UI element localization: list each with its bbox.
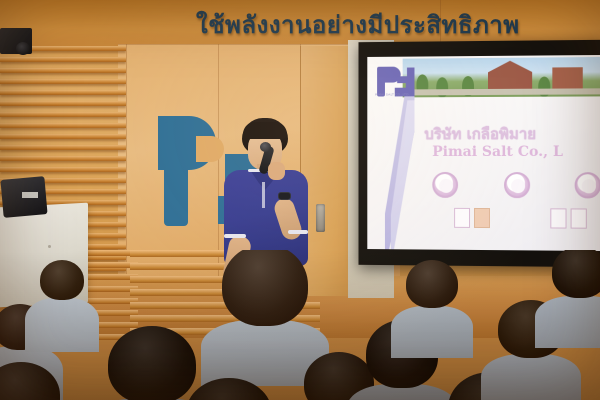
microphone-head-icon xyxy=(260,142,271,152)
speaker-cone-icon xyxy=(16,42,30,55)
logo-p-stem xyxy=(164,122,188,226)
audience-member-torso xyxy=(481,354,581,400)
wood-slat xyxy=(0,167,126,172)
footer-badge-1 xyxy=(454,208,470,228)
audience-member-torso xyxy=(25,298,99,352)
photo-scene: ใช้พลังงานอย่างมีประสิทธิภาพ xyxy=(0,0,600,400)
wall-banner-text: ใช้พลังงานอย่างมีประสิทธิภาพ xyxy=(196,8,466,42)
footer-badge-3 xyxy=(550,208,566,228)
presenter-left-sleeve-trim xyxy=(224,234,246,238)
lectern-screw-1 xyxy=(48,245,51,248)
wristwatch-icon xyxy=(278,192,291,200)
wood-slat xyxy=(0,101,126,106)
slide-photo-building xyxy=(488,61,532,91)
wood-slat xyxy=(0,134,126,139)
audience-member-torso xyxy=(391,306,473,358)
audience-member-head xyxy=(108,326,196,400)
wood-slat xyxy=(0,57,126,62)
audience-member-head xyxy=(40,260,84,300)
slide-title-english: Pimai Salt Co., L xyxy=(432,144,600,160)
projection-screen: PIMAI SALT CO.,LTD. บริษัท เกลือพิมาย Pi… xyxy=(367,55,600,251)
slide-photo-road xyxy=(403,88,600,95)
loudspeaker-icon xyxy=(0,28,32,54)
audience-member-head xyxy=(552,250,600,298)
footer-badge-4 xyxy=(571,208,587,228)
slide-certification-row xyxy=(428,172,600,203)
presenter-fringe xyxy=(243,122,287,139)
presenter-right-hand xyxy=(268,162,285,180)
wood-slat xyxy=(0,79,126,84)
audience-member-torso xyxy=(535,296,600,348)
slide-header-photo xyxy=(403,57,600,97)
wood-slat xyxy=(0,112,126,117)
slide-footer-badges xyxy=(454,208,587,231)
audience xyxy=(0,250,600,400)
slide-logo-caption: PIMAI SALT CO.,LTD. xyxy=(375,92,410,96)
footer-badge-2 xyxy=(474,208,490,228)
wood-slat xyxy=(0,156,126,161)
wood-slat xyxy=(0,145,126,150)
presenter-placket xyxy=(262,182,265,208)
cert-badge-3 xyxy=(575,172,600,198)
wood-slat xyxy=(0,123,126,128)
presenter-right-sleeve-trim xyxy=(288,230,308,234)
projection-screen-frame: PIMAI SALT CO.,LTD. บริษัท เกลือพิมาย Pi… xyxy=(358,40,600,267)
wood-slat xyxy=(0,68,126,73)
cert-badge-2 xyxy=(504,172,530,198)
audience-member-head xyxy=(406,260,458,308)
wood-slat xyxy=(0,90,126,95)
lectern-monitor-label xyxy=(22,192,38,198)
audience-member-head xyxy=(222,250,308,326)
slide-title-thai: บริษัท เกลือพิมาย xyxy=(424,122,600,146)
cert-badge-1 xyxy=(432,172,458,198)
